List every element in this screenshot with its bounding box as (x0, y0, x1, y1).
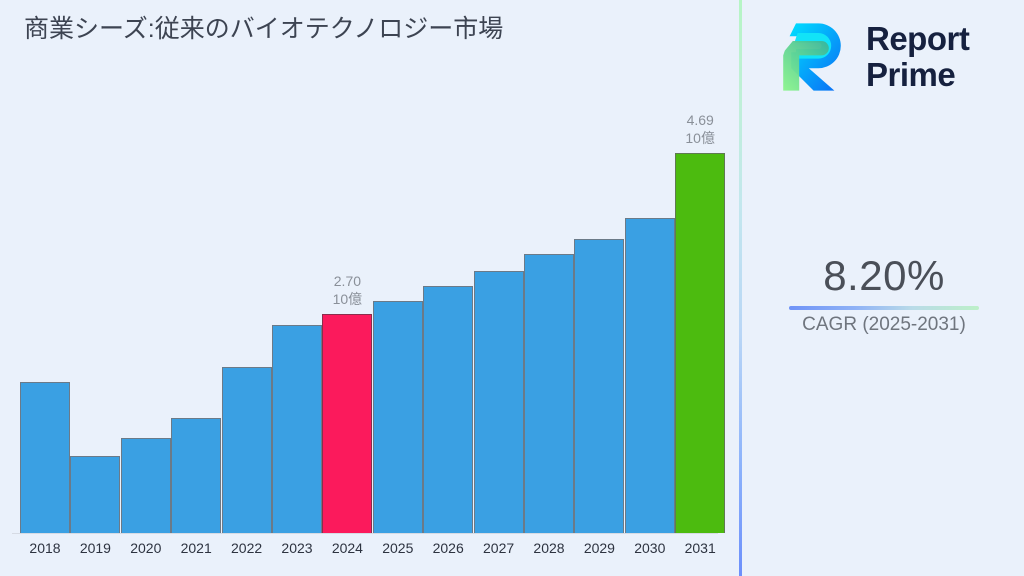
cagr-block: 8.20% CAGR (2025-2031) (762, 252, 1006, 336)
x-tick-2027: 2027 (474, 540, 524, 556)
brand-name-line1: Report (866, 20, 969, 57)
x-tick-2022: 2022 (222, 540, 272, 556)
bar-rect-2021[interactable] (171, 418, 221, 533)
bar-chart: 2.70 10億4.69 10億 20182019202020212022202… (0, 0, 739, 576)
x-tick-2030: 2030 (625, 540, 675, 556)
bar-series: 2.70 10億4.69 10億 (0, 120, 720, 533)
bar-rect-2023[interactable] (272, 325, 322, 533)
x-axis-tick-labels: 2018201920202021202220232024202520262027… (0, 534, 720, 574)
x-tick-2031: 2031 (675, 540, 725, 556)
bar-rect-2026[interactable] (423, 286, 473, 533)
bar-rect-2020[interactable] (121, 438, 171, 533)
brand-logo: Report Prime (772, 10, 1012, 104)
bar-rect-2019[interactable] (70, 456, 120, 533)
brand-name: Report Prime (866, 21, 969, 92)
brand-name-line2: Prime (866, 56, 955, 93)
bar-rect-2030[interactable] (625, 218, 675, 533)
x-tick-2019: 2019 (70, 540, 120, 556)
bar-rect-2024[interactable] (322, 314, 372, 533)
cagr-caption: CAGR (2025-2031) (762, 314, 1006, 336)
bar-rect-2022[interactable] (222, 367, 272, 533)
bar-rect-2027[interactable] (474, 271, 524, 533)
x-tick-2021: 2021 (171, 540, 221, 556)
chart-page: 商業シーズ:従来のバイオテクノロジー市場 2.70 10億4.69 10億 20… (0, 0, 1024, 576)
x-tick-2023: 2023 (272, 540, 322, 556)
report-prime-r-monogram-icon (772, 17, 852, 97)
cagr-value: 8.20% (762, 252, 1006, 300)
bar-rect-2018[interactable] (20, 382, 70, 533)
bar-rect-2025[interactable] (373, 301, 423, 533)
x-tick-2029: 2029 (574, 540, 624, 556)
plot-area: 2.70 10億4.69 10億 (0, 120, 720, 534)
x-tick-2026: 2026 (423, 540, 473, 556)
cagr-divider-rule (789, 306, 979, 310)
x-tick-2020: 2020 (121, 540, 171, 556)
bar-rect-2029[interactable] (574, 239, 624, 533)
x-tick-2018: 2018 (20, 540, 70, 556)
bar-value-label-2031: 4.69 10億 (661, 112, 739, 147)
x-tick-2025: 2025 (373, 540, 423, 556)
x-tick-2024: 2024 (322, 540, 372, 556)
x-tick-2028: 2028 (524, 540, 574, 556)
right-panel: Report Prime 8.20% CAGR (2025-2031) (742, 0, 1024, 576)
bar-rect-2031[interactable] (675, 153, 725, 533)
bar-rect-2028[interactable] (524, 254, 574, 533)
